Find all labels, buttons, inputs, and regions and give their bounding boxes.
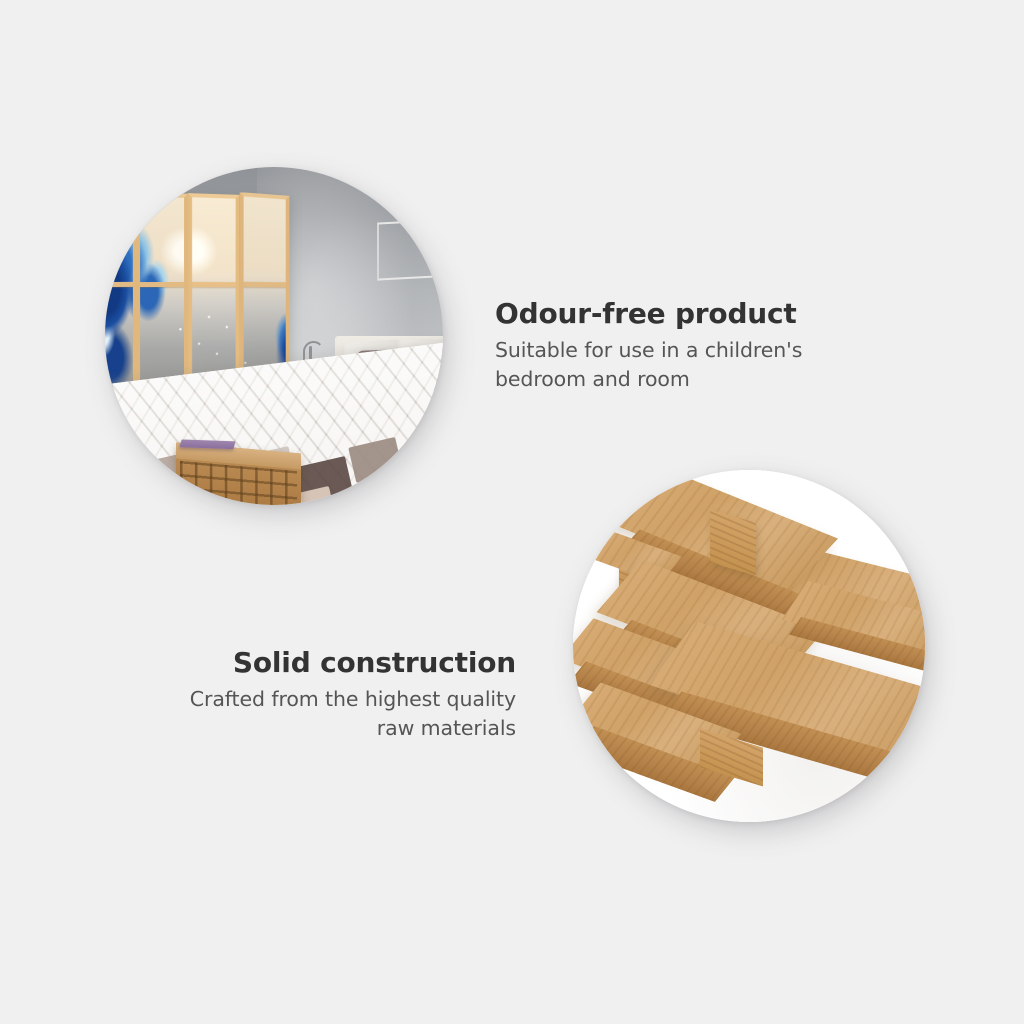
feature-description: Suitable for use in a children's bedroom… xyxy=(495,336,835,394)
wave-print-panel xyxy=(105,197,132,404)
great-wave-artwork xyxy=(136,196,187,404)
bedroom-scene xyxy=(105,167,443,505)
stacked-lumber-beams-photo xyxy=(573,470,925,822)
feature-title: Odour-free product xyxy=(495,297,835,330)
bedroom-with-folding-screen-photo xyxy=(105,167,443,505)
quilt-patch xyxy=(401,445,443,495)
wave-print-panel xyxy=(140,198,183,403)
feature-text-solid-construction: Solid construction Crafted from the high… xyxy=(156,646,516,743)
screen-panel xyxy=(105,193,136,408)
lumber-scene xyxy=(573,470,925,822)
wooden-bench xyxy=(176,442,301,505)
feature-description: Crafted from the highest quality raw mat… xyxy=(156,685,516,743)
feature-text-odour-free: Odour-free product Suitable for use in a… xyxy=(495,297,835,394)
infographic-canvas: Odour-free product Suitable for use in a… xyxy=(0,0,1024,1024)
quilt-patch xyxy=(348,437,403,483)
wall-picture-frame xyxy=(377,219,438,280)
feature-title: Solid construction xyxy=(156,646,516,679)
great-wave-artwork xyxy=(105,193,136,408)
